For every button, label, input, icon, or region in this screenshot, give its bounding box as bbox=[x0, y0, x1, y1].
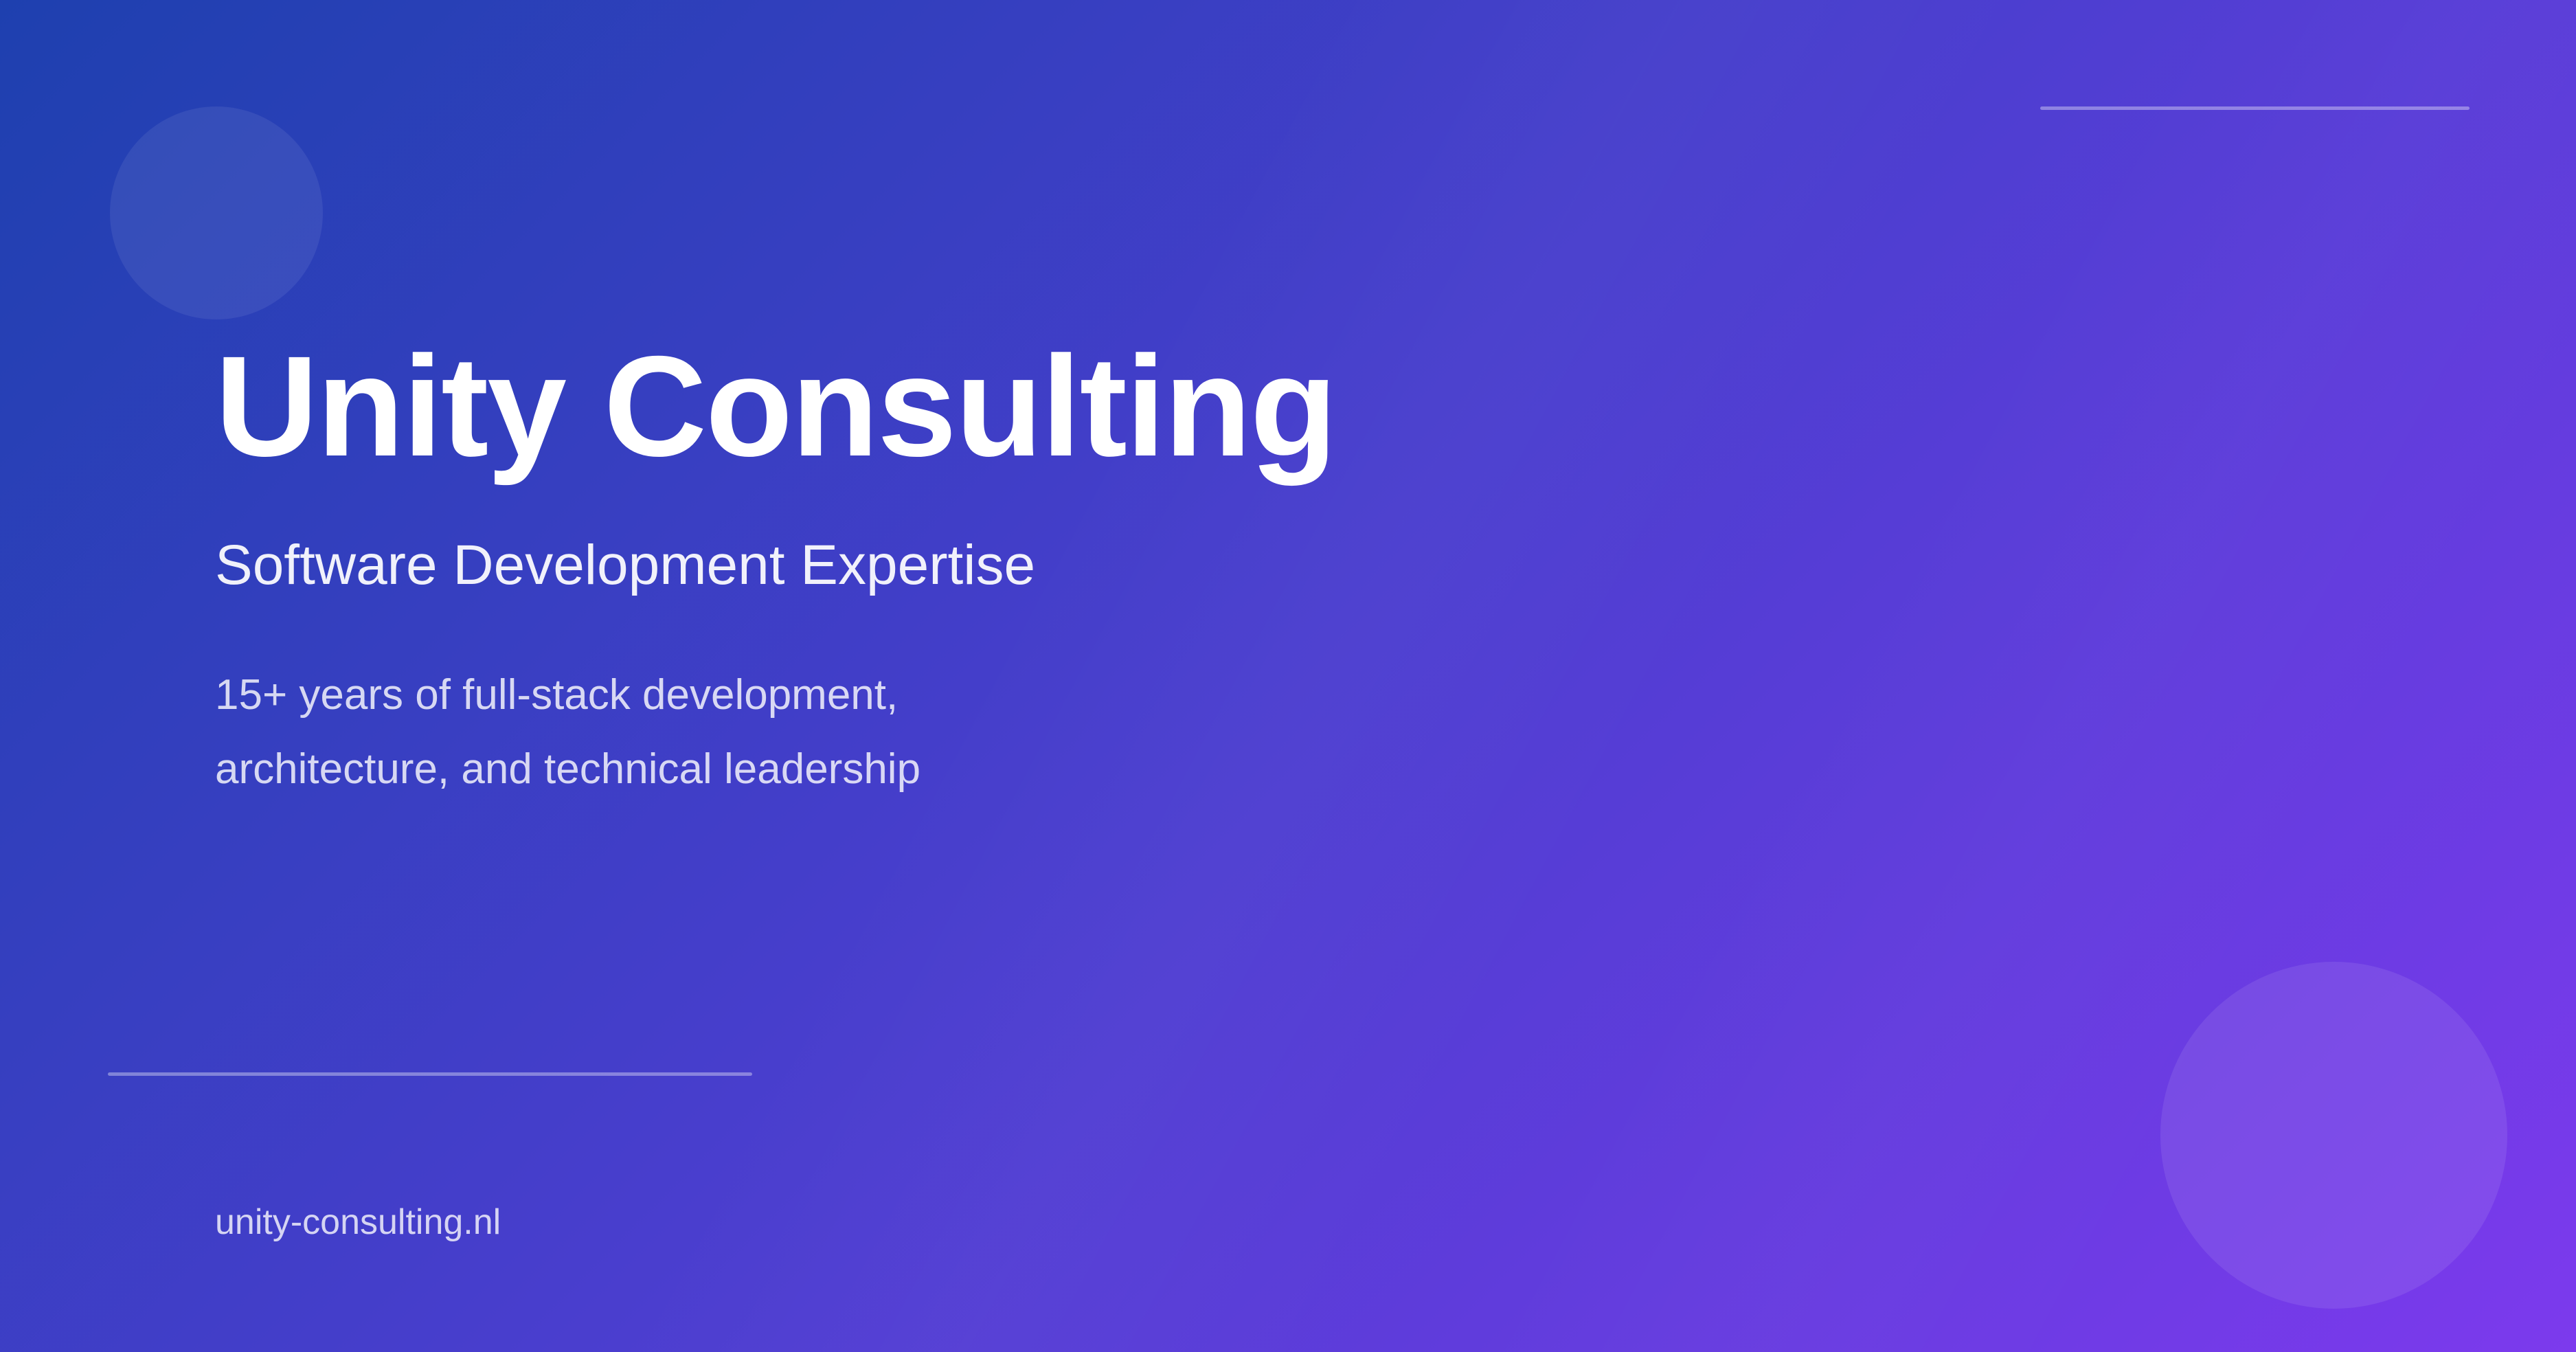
slide-body-line: architecture, and technical leadership bbox=[215, 732, 920, 807]
title-slide: Unity Consulting Software Development Ex… bbox=[0, 0, 2576, 1352]
decorative-circle-bottom-right bbox=[2160, 962, 2507, 1309]
divider-rule-left bbox=[108, 1072, 752, 1076]
footer-website-url: unity-consulting.nl bbox=[215, 1204, 501, 1240]
divider-rule-top-right bbox=[2040, 106, 2470, 110]
decorative-circle-top-left bbox=[110, 106, 323, 319]
slide-subtitle: Software Development Expertise bbox=[215, 537, 1035, 594]
slide-title: Unity Consulting bbox=[215, 335, 1336, 478]
slide-body-line: 15+ years of full-stack development, bbox=[215, 658, 920, 732]
slide-body-text: 15+ years of full-stack development, arc… bbox=[215, 658, 920, 807]
